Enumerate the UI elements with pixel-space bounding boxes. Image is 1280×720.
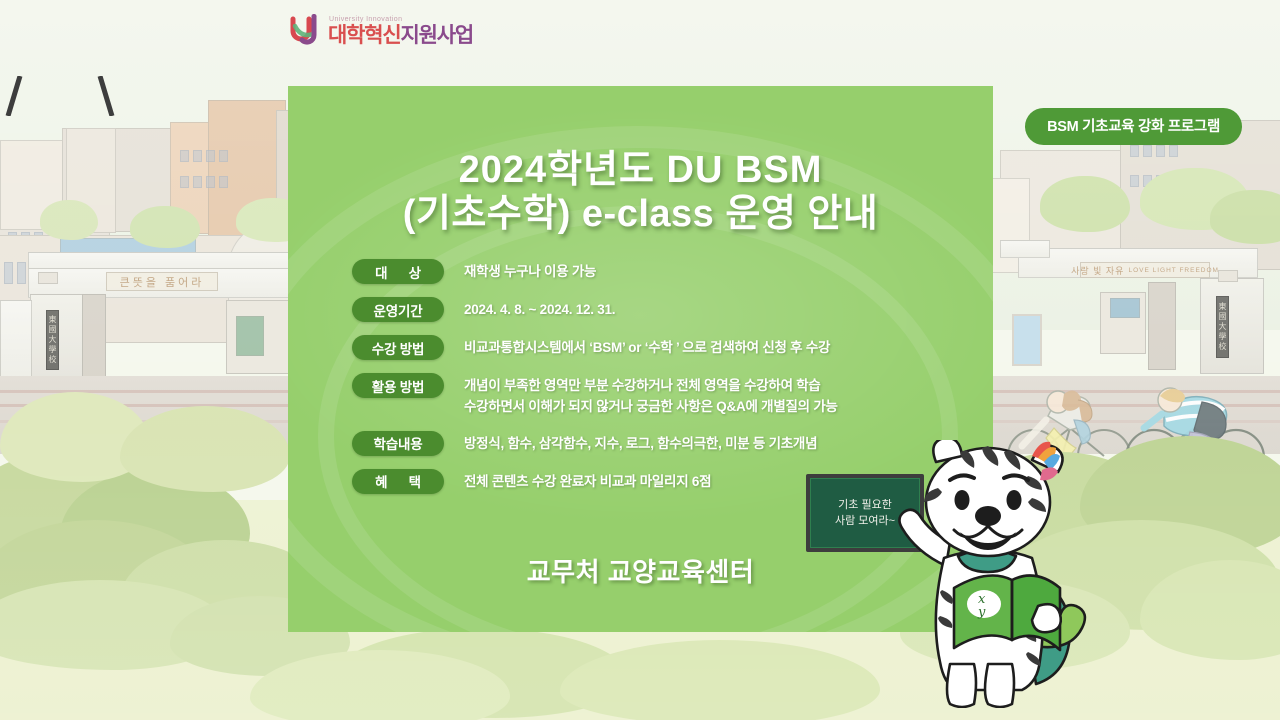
info-rows: 대 상 재학생 누구나 이용 가능 운영기간 2024. 4. 8. ~ 202… bbox=[352, 259, 962, 494]
window bbox=[206, 176, 215, 188]
window bbox=[1156, 145, 1165, 157]
window-row bbox=[180, 150, 228, 162]
window bbox=[206, 150, 215, 162]
poster-title-line1: 2024학년도 DU BSM bbox=[288, 148, 993, 192]
window bbox=[1130, 145, 1139, 157]
tiger-eye-left bbox=[955, 490, 970, 510]
info-row-value: 2024. 4. 8. ~ 2024. 12. 31. bbox=[464, 297, 615, 321]
program-badge: BSM 기초교육 강화 프로그램 bbox=[1025, 108, 1242, 145]
gate-sign-right-eng: LOVE LIGHT FREEDOM bbox=[1128, 267, 1218, 274]
info-row-label: 운영기간 bbox=[352, 297, 444, 322]
tree bbox=[130, 206, 200, 248]
window bbox=[180, 176, 189, 188]
gate-plaque-left: 東國大學校 bbox=[46, 310, 59, 370]
tiger-leg-right bbox=[985, 664, 1014, 707]
info-row-label: 학습내용 bbox=[352, 431, 444, 456]
guardhouse-window-right bbox=[1110, 298, 1140, 318]
info-row-value: 비교과통합시스템에서 ‘BSM’ or ‘수학 ’ 으로 검색하여 신청 후 수… bbox=[464, 335, 830, 359]
chalkboard-legs bbox=[4, 76, 116, 116]
info-row-value: 방정식, 함수, 삼각함수, 지수, 로그, 함수의극한, 미분 등 기초개념 bbox=[464, 431, 817, 455]
gate-sign-right-kor: 사랑 빛 자유 bbox=[1071, 264, 1124, 277]
tree bbox=[1040, 176, 1130, 232]
window bbox=[180, 150, 189, 162]
poster-footer: 교무처 교양교육센터 bbox=[288, 552, 993, 589]
logo-english-label: University Innovation bbox=[329, 16, 473, 23]
tiger-nose bbox=[975, 506, 1001, 526]
info-row-value: 재학생 누구나 이용 가능 bbox=[464, 259, 596, 283]
info-row: 학습내용 방정식, 함수, 삼각함수, 지수, 로그, 함수의극한, 미분 등 … bbox=[352, 431, 962, 456]
poster-title: 2024학년도 DU BSM (기초수학) e-class 운영 안내 bbox=[288, 148, 993, 236]
info-row: 대 상 재학생 누구나 이용 가능 bbox=[352, 259, 962, 284]
info-row-value: 개념이 부족한 영역만 부분 수강하거나 전체 영역을 수강하여 학습 수강하면… bbox=[464, 373, 838, 418]
logo-korean-part1: 대학혁신 bbox=[328, 24, 400, 47]
window bbox=[4, 262, 13, 284]
window bbox=[1169, 145, 1178, 157]
tiger-paw-right bbox=[1032, 604, 1061, 632]
info-row: 활용 방법 개념이 부족한 영역만 부분 수강하거나 전체 영역을 수강하여 학… bbox=[352, 373, 962, 418]
tree bbox=[40, 200, 98, 240]
window-row bbox=[1130, 145, 1178, 157]
info-row-label: 혜 택 bbox=[352, 469, 444, 494]
info-row-label: 활용 방법 bbox=[352, 373, 444, 398]
info-row-label: 대 상 bbox=[352, 259, 444, 284]
window bbox=[17, 262, 26, 284]
gate-box-left bbox=[38, 272, 58, 284]
gate-wall-left-low bbox=[0, 300, 32, 382]
gate-door-left bbox=[82, 294, 106, 380]
window bbox=[1130, 175, 1139, 187]
tree bbox=[1210, 190, 1280, 244]
uj-monogram-icon bbox=[288, 14, 322, 48]
gate-sign-left: 큰뜻을 품어라 bbox=[106, 272, 218, 291]
white-tiger-mascot: x y bbox=[892, 440, 1118, 708]
tiger-leg-left bbox=[947, 664, 976, 707]
window bbox=[193, 176, 202, 188]
guardhouse-window-left bbox=[236, 316, 264, 356]
book-label-y: y bbox=[977, 605, 986, 620]
poster-title-line2: (기초수학) e-class 운영 안내 bbox=[288, 192, 993, 236]
info-row-label: 수강 방법 bbox=[352, 335, 444, 360]
tiger-eye-right bbox=[1007, 490, 1022, 510]
info-row-value: 전체 콘텐츠 수강 완료자 비교과 마일리지 6점 bbox=[464, 469, 711, 493]
gate-sign-right: 사랑 빛 자유 LOVE LIGHT FREEDOM bbox=[1080, 262, 1210, 278]
window bbox=[1143, 145, 1152, 157]
poster-canvas: 큰뜻을 품어라 東國大學校 사랑 빛 자유 LOVE LIGHT FREEDOM… bbox=[0, 0, 1280, 720]
logo-text: University Innovation 대학혁신지원사업 bbox=[328, 16, 473, 46]
window bbox=[193, 150, 202, 162]
gate-box-right bbox=[1218, 270, 1238, 282]
info-row: 수강 방법 비교과통합시스템에서 ‘BSM’ or ‘수학 ’ 으로 검색하여 … bbox=[352, 335, 962, 360]
window bbox=[219, 150, 228, 162]
logo-korean-label: 대학혁신지원사업 bbox=[328, 25, 473, 46]
window-row bbox=[180, 176, 228, 188]
university-innovation-logo: University Innovation 대학혁신지원사업 bbox=[288, 14, 473, 48]
info-row: 운영기간 2024. 4. 8. ~ 2024. 12. 31. bbox=[352, 297, 962, 322]
window bbox=[219, 176, 228, 188]
gate-wall-right bbox=[1000, 240, 1050, 258]
logo-korean-part2: 지원사업 bbox=[400, 24, 472, 47]
